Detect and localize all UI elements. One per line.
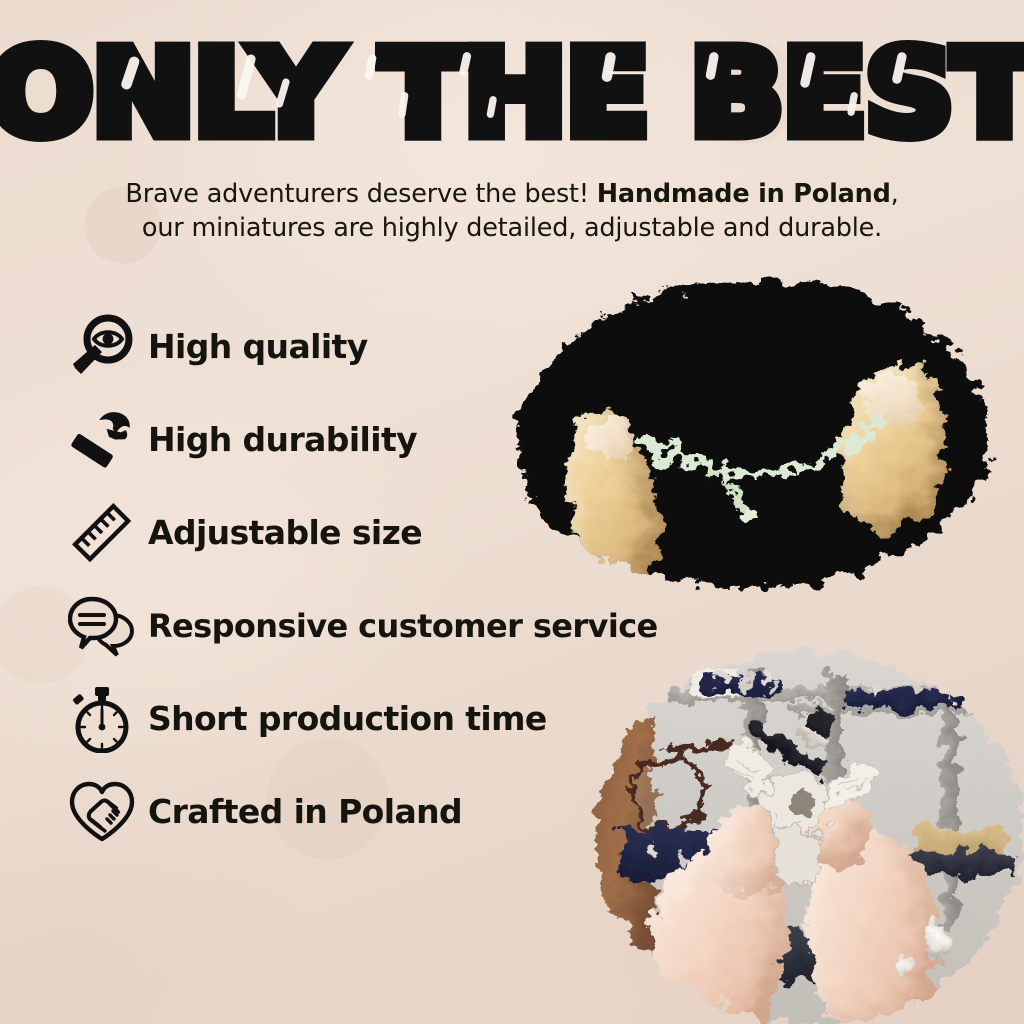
subtitle-line-2: our miniatures are highly detailed, adju… <box>82 212 942 246</box>
flexible-miniature-photo <box>516 282 990 588</box>
stopwatch-icon <box>62 683 142 755</box>
subtitle: Brave adventurers deserve the best! Hand… <box>82 178 942 245</box>
feature-label: High quality <box>148 327 368 366</box>
magnifier-eye-icon <box>62 311 142 383</box>
painting-workshop-photo <box>596 652 1024 1024</box>
torn-edge-frame <box>596 652 1024 1024</box>
feature-label: Responsive customer service <box>148 607 658 645</box>
torn-edge-frame <box>516 282 990 588</box>
subtitle-line-1: Brave adventurers deserve the best! Hand… <box>82 178 942 212</box>
feature-label: Crafted in Poland <box>148 792 462 831</box>
feature-label: Adjustable size <box>148 513 422 552</box>
hammer-icon <box>62 404 142 476</box>
handshake-heart-icon <box>62 776 142 848</box>
ruler-icon <box>62 497 142 569</box>
subtitle-bold-highlight: Handmade in Poland <box>597 179 891 209</box>
page-title: ONLY THE BEST <box>0 34 1024 152</box>
feature-label: High durability <box>148 420 417 459</box>
subtitle-lead: Brave adventurers deserve the best! <box>125 179 588 209</box>
page-title-text: ONLY THE BEST <box>0 24 1024 162</box>
promo-graphic: ONLY THE BEST Brave adventurers deserve … <box>0 0 1024 1024</box>
feature-label: Short production time <box>148 699 547 738</box>
subtitle-tail: , <box>891 179 899 209</box>
speech-bubbles-icon <box>62 590 142 662</box>
